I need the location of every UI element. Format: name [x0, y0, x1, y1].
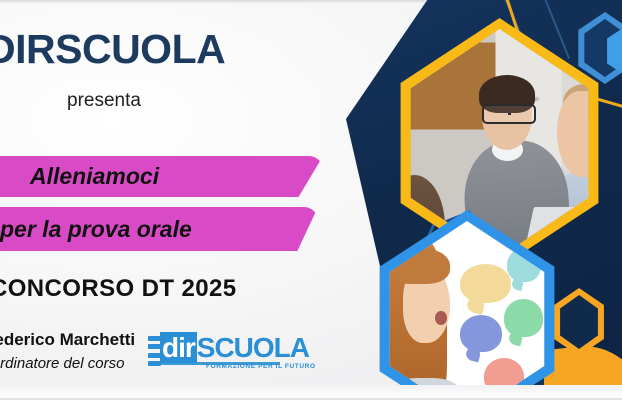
- logo-wordmark: dirSCUOLA: [160, 332, 309, 364]
- logo-word-scuola: SCUOLA: [197, 332, 309, 363]
- speech-bubble-icon: [460, 315, 502, 352]
- headline-line-2: per la prova orale: [0, 216, 192, 243]
- brand-title: DIRSCUOLA: [0, 26, 225, 73]
- logo-mark-dir: dir: [160, 332, 197, 363]
- headline-band-2: per la prova orale: [0, 207, 318, 251]
- speech-bubble-icon: [460, 264, 510, 303]
- presentation-slide: DIRSCUOLA presenta Alleniamoci per la pr…: [0, 0, 622, 400]
- headline-band-1: Alleniamoci: [0, 156, 323, 197]
- slide-content: DIRSCUOLA presenta Alleniamoci per la pr…: [0, 0, 360, 400]
- photo-glasses: [482, 104, 536, 124]
- photo-woman-mouth: [435, 311, 447, 325]
- dirscuola-logo: dirSCUOLA FORMAZIONE PER IL FUTURO: [148, 332, 296, 378]
- speech-bubble-icon: [504, 299, 543, 336]
- speaking-woman-photo: [372, 210, 562, 400]
- bottom-border: [0, 385, 622, 400]
- presenta-label: presenta: [67, 90, 141, 112]
- author-name: Federico Marchetti: [0, 330, 135, 350]
- speaking-photo-content: [383, 221, 551, 400]
- author-role: coordinatore del corso: [0, 355, 124, 372]
- headline-line-1: Alleniamoci: [30, 163, 159, 190]
- logo-tagline: FORMAZIONE PER IL FUTURO: [206, 363, 316, 370]
- subject-title: CONCORSO DT 2025: [0, 275, 236, 303]
